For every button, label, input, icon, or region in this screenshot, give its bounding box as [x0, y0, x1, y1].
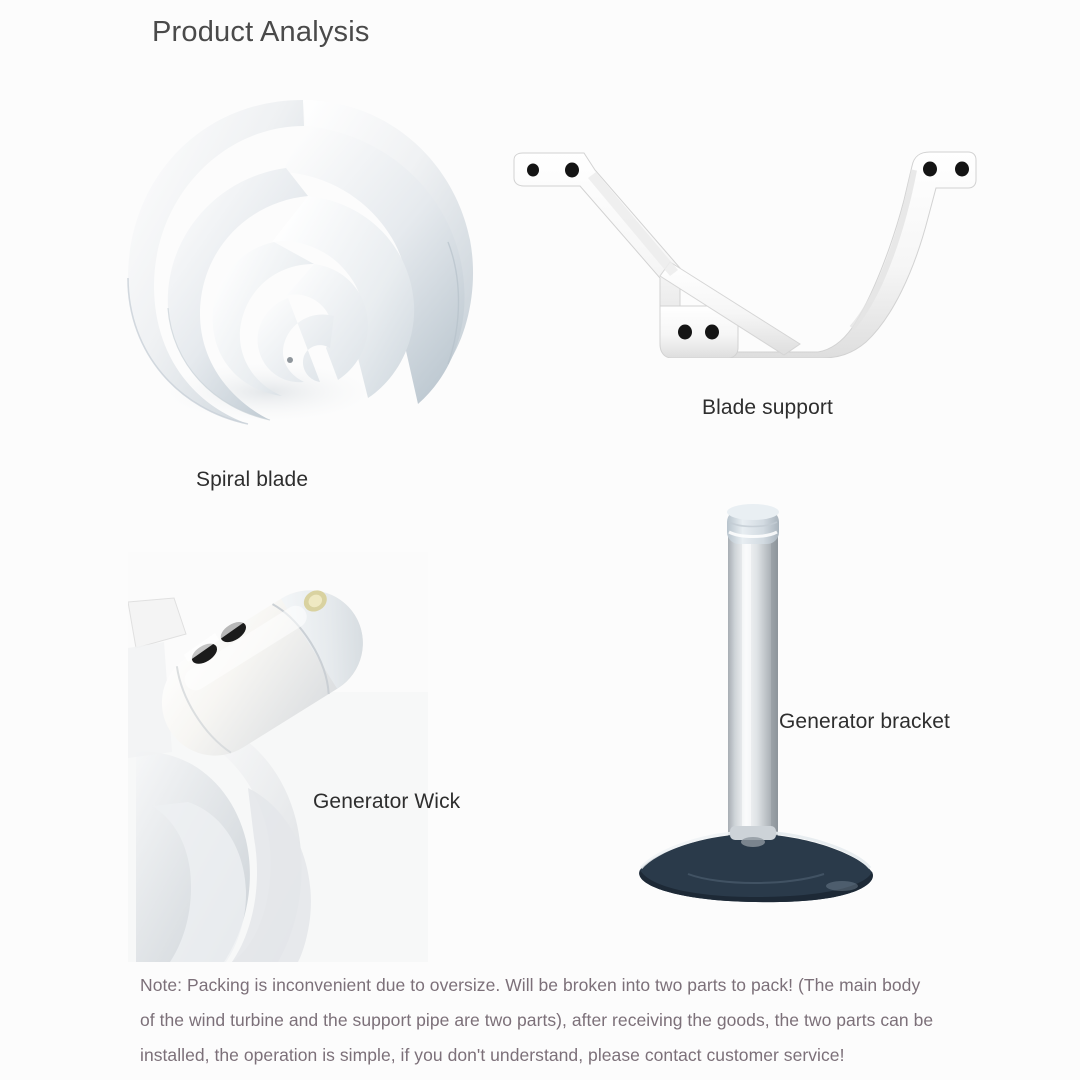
- blade-support-photo: [500, 136, 978, 358]
- packing-note: Note: Packing is inconvenient due to ove…: [140, 968, 968, 1073]
- note-line-1: Note: Packing is inconvenient due to ove…: [140, 968, 968, 1003]
- blade-support-label: Blade support: [702, 396, 833, 420]
- spiral-blade-photo: [118, 92, 484, 442]
- note-line-2: of the wind turbine and the support pipe…: [140, 1003, 968, 1038]
- generator-bracket-label: Generator bracket: [779, 710, 950, 734]
- note-line-3: installed, the operation is simple, if y…: [140, 1038, 968, 1073]
- generator-wick-label: Generator Wick: [313, 790, 460, 814]
- generator-wick-photo: [128, 552, 428, 962]
- spiral-blade-label: Spiral blade: [196, 468, 308, 492]
- product-analysis-page: Product Analysis: [0, 0, 1080, 1080]
- generator-bracket-photo: [628, 496, 878, 910]
- page-title: Product Analysis: [152, 16, 370, 49]
